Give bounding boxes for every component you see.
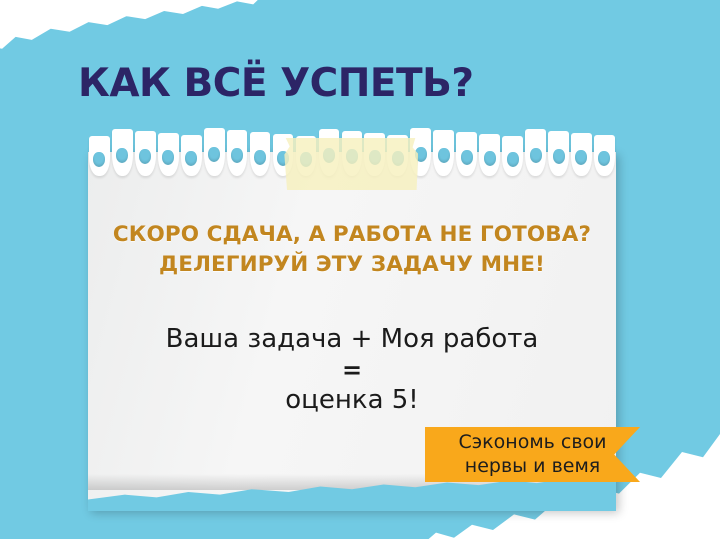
ribbon-banner: Сэкономь свои нервы и вемя (425, 427, 640, 482)
paper-body-line-2: = (88, 356, 616, 385)
ribbon-line-2: нервы и вемя (465, 455, 600, 478)
ribbon-line-1: Сэкономь свои (458, 431, 606, 454)
notebook-punch-hole (438, 148, 450, 163)
paper-headline: СКОРО СДАЧА, А РАБОТА НЕ ГОТОВА? ДЕЛЕГИР… (88, 220, 616, 279)
paper-headline-line-2: ДЕЛЕГИРУЙ ЭТУ ЗАДАЧУ МНЕ! (88, 250, 616, 280)
page-title: КАК ВСЁ УСПЕТЬ? (78, 64, 474, 103)
masking-tape-icon (283, 138, 418, 190)
torn-paper-corner-top-left-icon (0, 0, 264, 68)
notebook-punch-hole (484, 151, 496, 166)
avito-wordmark: Avito (648, 508, 712, 535)
notebook-punch-hole (461, 150, 473, 165)
ad-card: КАК ВСЁ УСПЕТЬ? СКОРО СДАЧА, А РАБОТА НЕ… (0, 0, 720, 539)
paper-headline-line-1: СКОРО СДАЧА, А РАБОТА НЕ ГОТОВА? (88, 220, 616, 250)
avito-dots-icon (618, 510, 644, 534)
avito-watermark: Avito (618, 508, 712, 535)
notebook-punch-hole (530, 148, 542, 163)
paper-body-line-1: Ваша задача + Моя работа (88, 324, 616, 356)
notebook-punch-hole (254, 150, 266, 165)
notebook-punch-hole (507, 152, 519, 167)
paper-body: Ваша задача + Моя работа = оценка 5! (88, 324, 616, 417)
notebook-punch-hole (553, 149, 565, 164)
paper-body-line-3: оценка 5! (88, 385, 616, 417)
